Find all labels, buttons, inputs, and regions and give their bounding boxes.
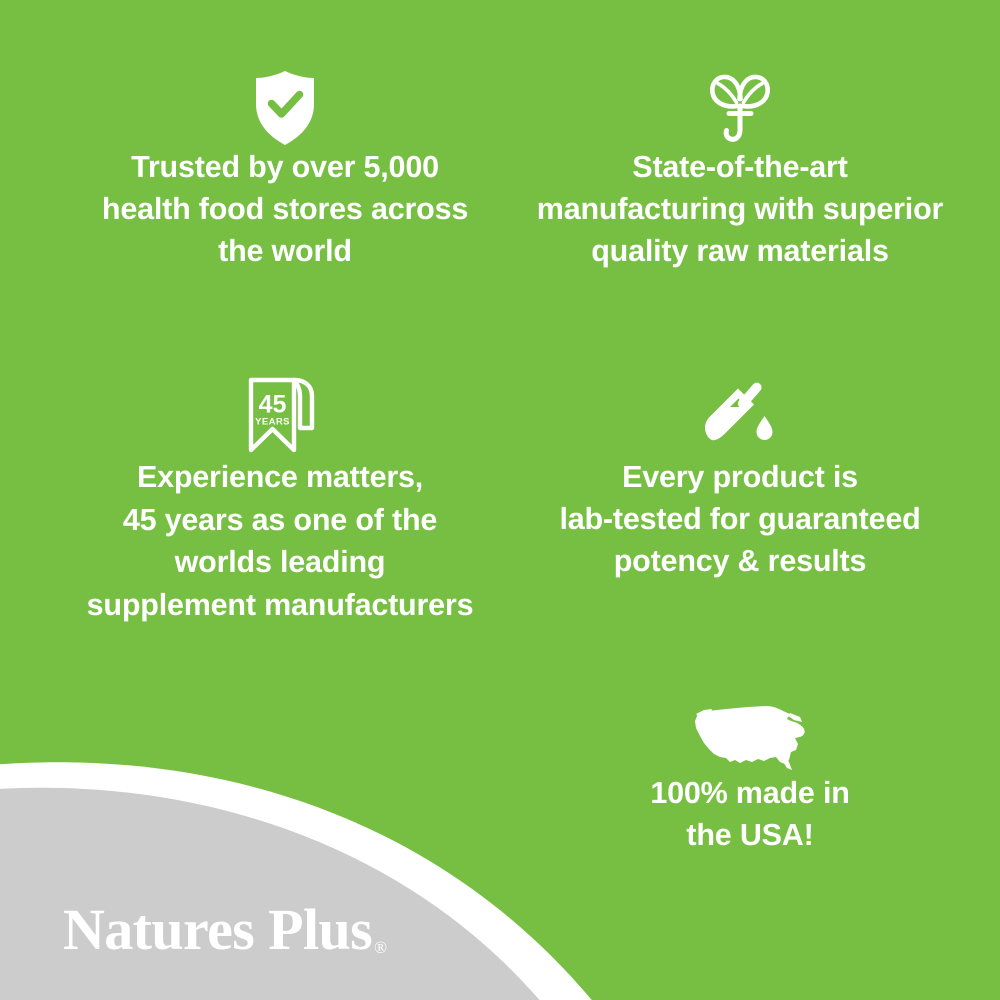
feature-icon-wrap <box>495 62 985 146</box>
feature-icon-wrap <box>40 62 530 146</box>
feature-icon-wrap <box>495 372 985 456</box>
sprout-plant-icon <box>702 68 778 146</box>
feature-text: Trusted by over 5,000 health food stores… <box>40 146 530 272</box>
test-tube-droplet-icon <box>698 376 782 456</box>
feature-experience: 45 YEARS Experience matters, 45 years as… <box>35 372 525 626</box>
usa-map-icon <box>690 700 810 772</box>
banner-number: 45 <box>259 391 287 419</box>
brand-name: Natures Plus <box>63 901 372 959</box>
banner-word: YEARS <box>255 417 290 428</box>
45-years-banner-icon: 45 YEARS <box>238 372 322 456</box>
feature-icon-wrap <box>540 692 960 772</box>
feature-lab-tested: Every product is lab-tested for guarante… <box>495 372 985 582</box>
shield-check-icon <box>252 70 318 146</box>
feature-text: State-of-the-art manufacturing with supe… <box>495 146 985 272</box>
feature-text: Experience matters, 45 years as one of t… <box>35 456 525 626</box>
feature-text: Every product is lab-tested for guarante… <box>495 456 985 582</box>
registered-trademark-symbol: ® <box>374 939 387 956</box>
feature-text: 100% made in the USA! <box>540 772 960 856</box>
brand-logo: Natures Plus ® <box>63 901 387 959</box>
feature-grid: Trusted by over 5,000 health food stores… <box>0 0 1000 1000</box>
feature-trusted: Trusted by over 5,000 health food stores… <box>40 62 530 272</box>
feature-made-in-usa: 100% made in the USA! <box>540 692 960 856</box>
feature-icon-wrap: 45 YEARS <box>35 372 525 456</box>
feature-manufacturing: State-of-the-art manufacturing with supe… <box>495 62 985 272</box>
promo-graphic-canvas: Trusted by over 5,000 health food stores… <box>0 0 1000 1000</box>
